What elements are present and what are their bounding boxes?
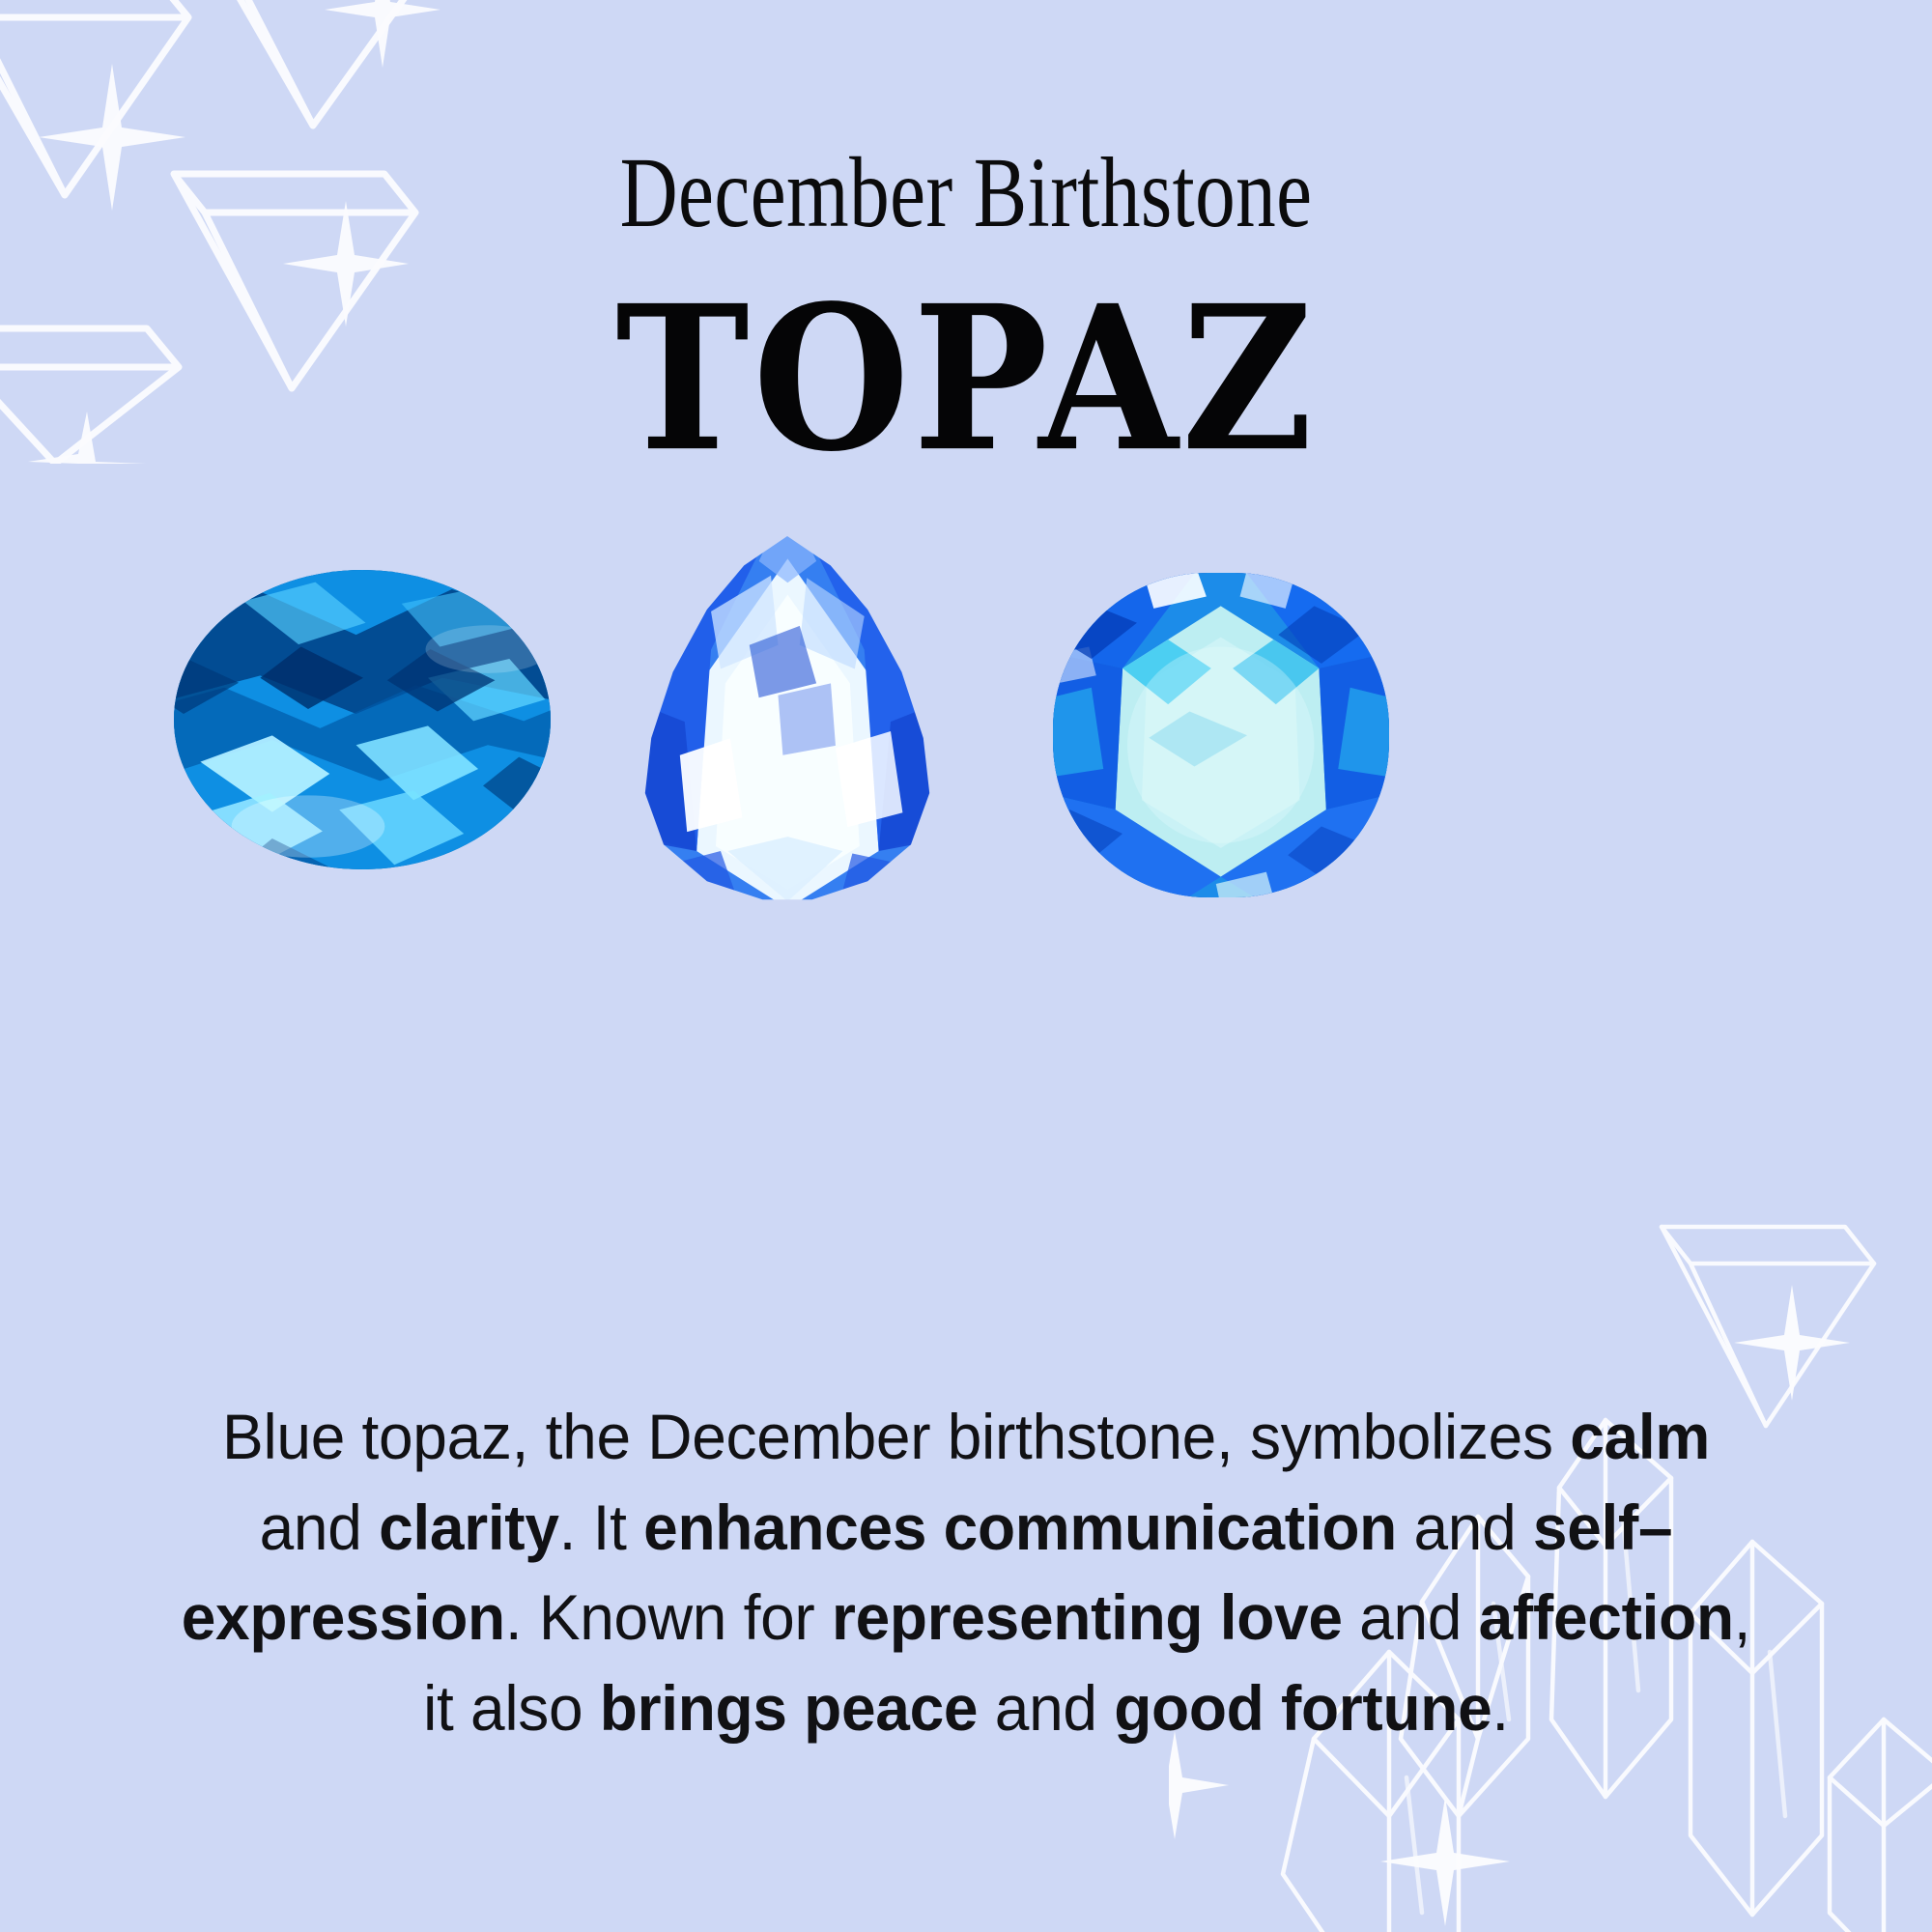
gem-pear-cut-blue-topaz — [633, 536, 942, 903]
description-text: and — [1343, 1581, 1479, 1653]
description-text: Blue topaz, the December birthstone, sym… — [222, 1401, 1570, 1472]
description-emphasis: clarity — [379, 1492, 559, 1563]
poster-canvas: December Birthstone TOPAZ — [0, 0, 1932, 1932]
description-text: and — [260, 1492, 379, 1563]
description-text: and — [1397, 1492, 1533, 1563]
description-text: and — [978, 1672, 1114, 1744]
gemstone-gallery — [0, 526, 1932, 932]
description-text: . — [1492, 1672, 1509, 1744]
description-emphasis: enhances communication — [643, 1492, 1397, 1563]
description-emphasis: representing love — [832, 1581, 1343, 1653]
gem-oval-cut-blue-topaz — [174, 570, 551, 869]
page-eyebrow-heading: December Birthstone — [193, 143, 1739, 243]
description-emphasis: calm — [1570, 1401, 1710, 1472]
page-title-wordmark: TOPAZ — [68, 280, 1864, 479]
description-text: . It — [559, 1492, 643, 1563]
description-emphasis: affection — [1479, 1581, 1734, 1653]
description-paragraph: Blue topaz, the December birthstone, sym… — [170, 1392, 1763, 1754]
gem-round-cut-blue-topaz — [1053, 573, 1389, 897]
description-emphasis: brings peace — [600, 1672, 978, 1744]
description-text: . Known for — [505, 1581, 832, 1653]
description-emphasis: good fortune — [1114, 1672, 1492, 1744]
